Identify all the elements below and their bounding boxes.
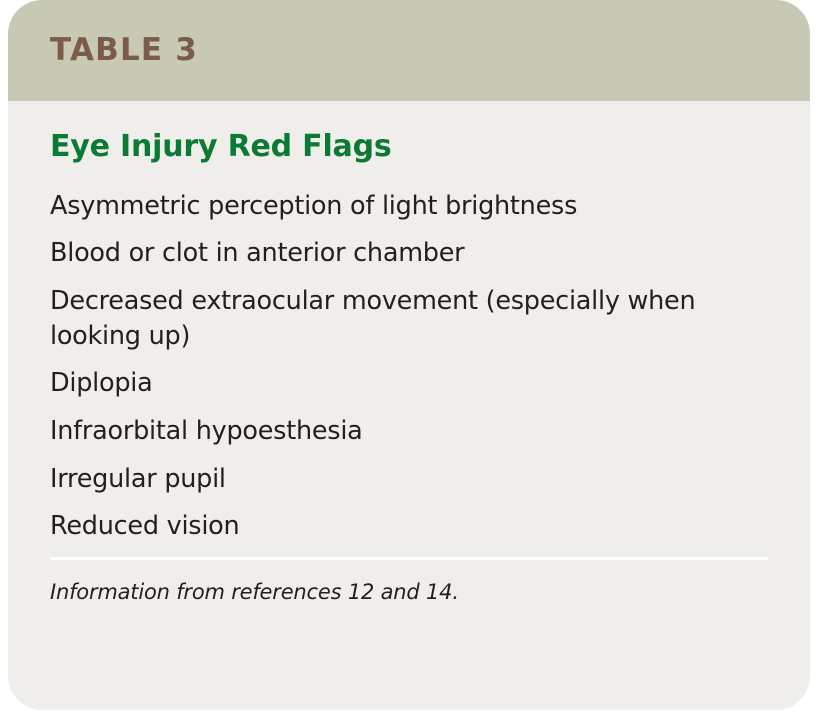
table-card: TABLE 3 Eye Injury Red Flags Asymmetric …	[8, 0, 810, 710]
list-item: Decreased extraocular movement (especial…	[50, 284, 768, 353]
list-item: Diplopia	[50, 366, 768, 401]
red-flags-list: Asymmetric perception of light brightnes…	[50, 189, 768, 544]
table-header-band: TABLE 3	[8, 0, 810, 101]
list-item: Irregular pupil	[50, 462, 768, 497]
list-item: Infraorbital hypoesthesia	[50, 414, 768, 449]
footnote-divider	[50, 557, 768, 560]
list-item: Blood or clot in anterior chamber	[50, 236, 768, 271]
list-item: Asymmetric perception of light brightnes…	[50, 189, 768, 224]
table-body: Eye Injury Red Flags Asymmetric percepti…	[8, 130, 810, 605]
list-item: Reduced vision	[50, 509, 768, 544]
footnote-text: Information from references 12 and 14.	[50, 580, 768, 605]
table-title: Eye Injury Red Flags	[50, 130, 768, 165]
table-number-label: TABLE 3	[50, 35, 198, 66]
